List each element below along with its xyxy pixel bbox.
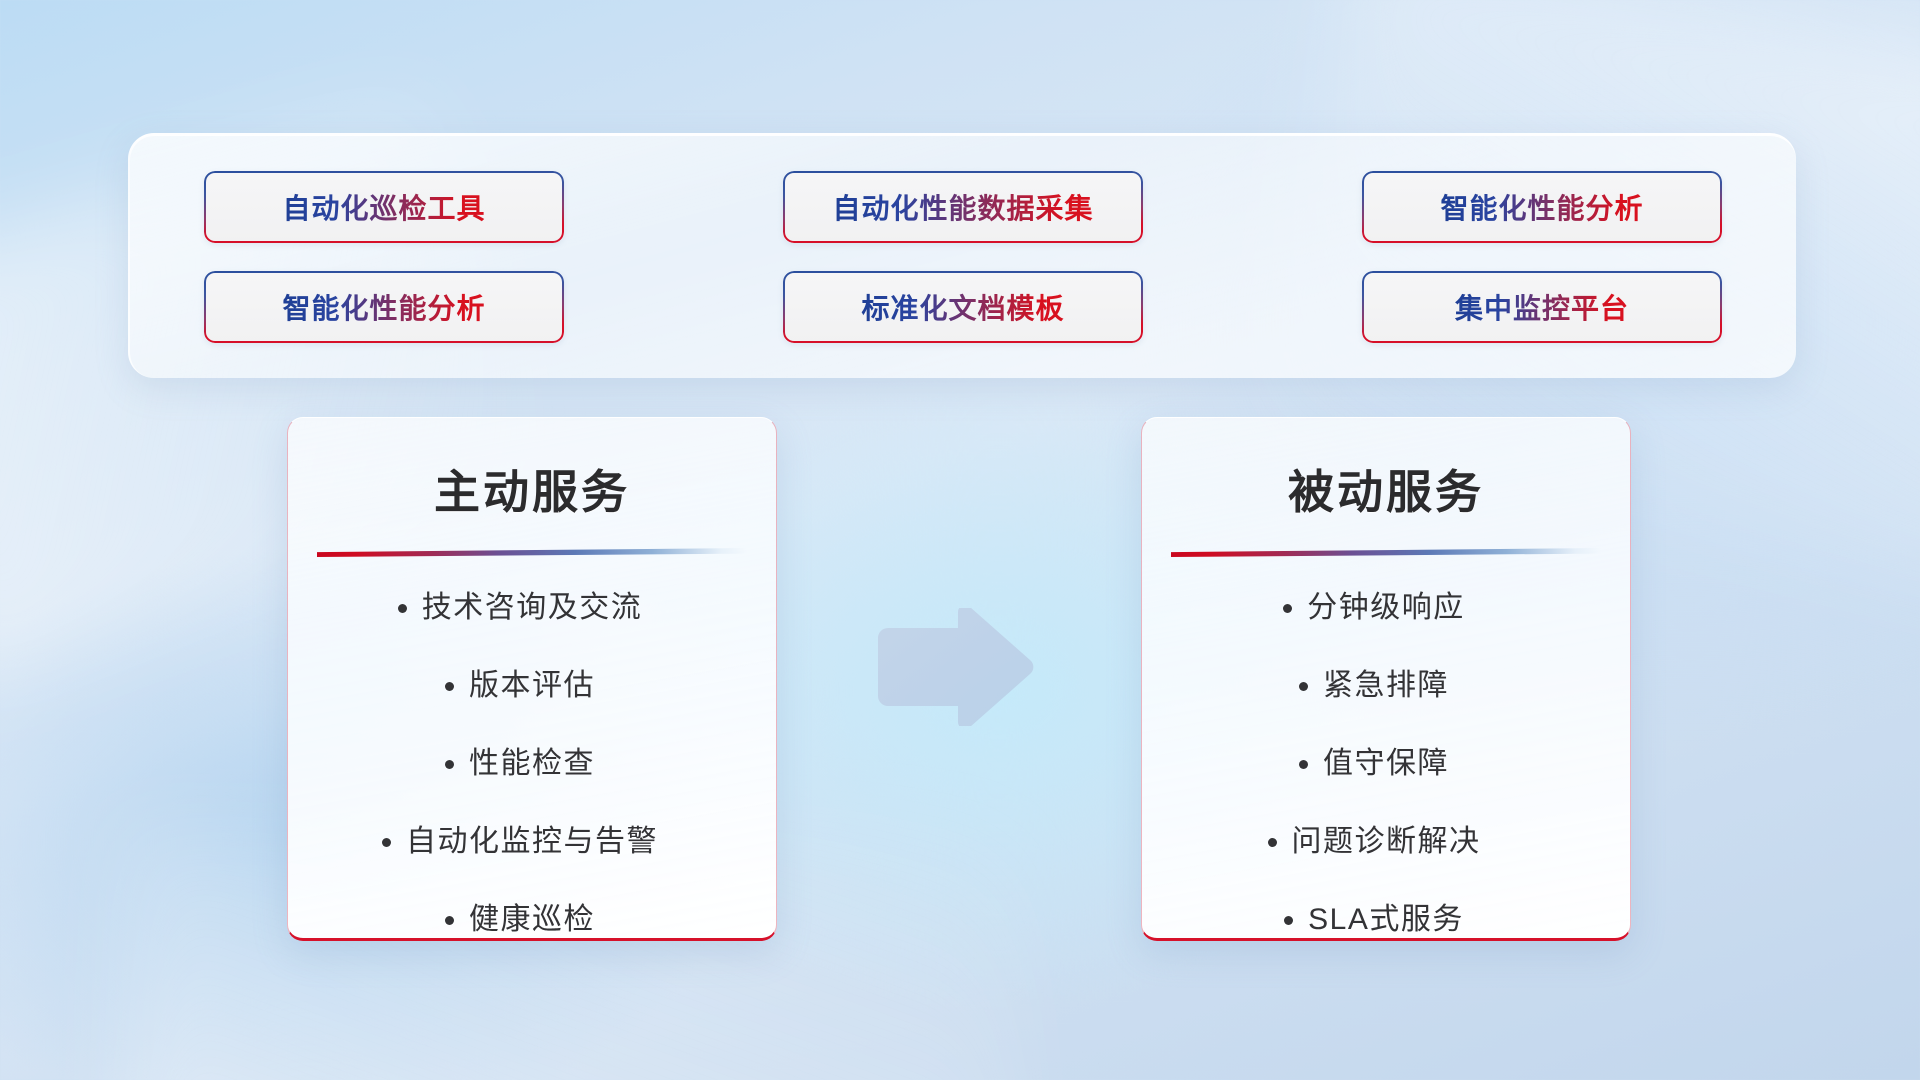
capability-pill-centralized-monitoring-platform[interactable]: 集中监控平台: [1362, 271, 1722, 343]
capability-pill-label: 标准化文档模板: [861, 287, 1064, 327]
service-list-item: 值守保障: [1323, 738, 1449, 782]
capability-pill-standardized-document-template[interactable]: 标准化文档模板: [783, 271, 1143, 343]
service-item-list: 技术咨询及交流 版本评估 性能检查 自动化监控与告警 健康巡检: [288, 582, 776, 938]
service-card-proactive: 主动服务 技术咨询及交流 版本评估 性能检查 自动化监控与告警 健康巡检: [287, 417, 777, 941]
right-arrow-icon: [874, 608, 1034, 726]
capability-pill-label: 自动化巡检工具: [282, 187, 485, 227]
service-list-item: 分钟级响应: [1307, 582, 1465, 626]
service-list-item: SLA式服务: [1308, 894, 1464, 938]
capabilities-row-1: 自动化巡检工具 自动化性能数据采集 智能化性能分析: [204, 171, 1722, 243]
title-divider: [317, 544, 747, 546]
service-card-title: 被动服务: [1288, 456, 1484, 522]
service-card-title: 主动服务: [434, 456, 630, 522]
service-item-list: 分钟级响应 紧急排障 值守保障 问题诊断解决 SLA式服务: [1142, 582, 1630, 938]
service-list-item: 紧急排障: [1323, 660, 1449, 704]
capabilities-panel: 自动化巡检工具 自动化性能数据采集 智能化性能分析 智能化性能分析 标准化文档模…: [128, 133, 1796, 378]
capability-pill-automated-performance-data-collection[interactable]: 自动化性能数据采集: [783, 171, 1143, 243]
service-list-item: 问题诊断解决: [1292, 816, 1481, 860]
capability-pill-label: 自动化性能数据采集: [832, 187, 1093, 227]
service-list-item: 自动化监控与告警: [406, 816, 658, 860]
title-divider-bar: [1171, 548, 1601, 557]
service-card-reactive: 被动服务 分钟级响应 紧急排障 值守保障 问题诊断解决 SLA式服务: [1141, 417, 1631, 941]
capability-pill-label: 智能化性能分析: [282, 287, 485, 327]
capability-pill-intelligent-performance-analysis-bottom[interactable]: 智能化性能分析: [204, 271, 564, 343]
capabilities-row-2: 智能化性能分析 标准化文档模板 集中监控平台: [204, 271, 1722, 343]
capability-pill-label: 集中监控平台: [1455, 287, 1629, 327]
capability-pill-automated-inspection-tool[interactable]: 自动化巡检工具: [204, 171, 564, 243]
service-list-item: 性能检查: [469, 738, 595, 782]
title-divider-bar: [317, 548, 747, 557]
service-list-item: 健康巡检: [469, 894, 595, 938]
service-list-item: 技术咨询及交流: [422, 582, 643, 626]
title-divider: [1171, 544, 1601, 546]
service-list-item: 版本评估: [469, 660, 595, 704]
capability-pill-label: 智能化性能分析: [1440, 187, 1643, 227]
capability-pill-intelligent-performance-analysis-top[interactable]: 智能化性能分析: [1362, 171, 1722, 243]
